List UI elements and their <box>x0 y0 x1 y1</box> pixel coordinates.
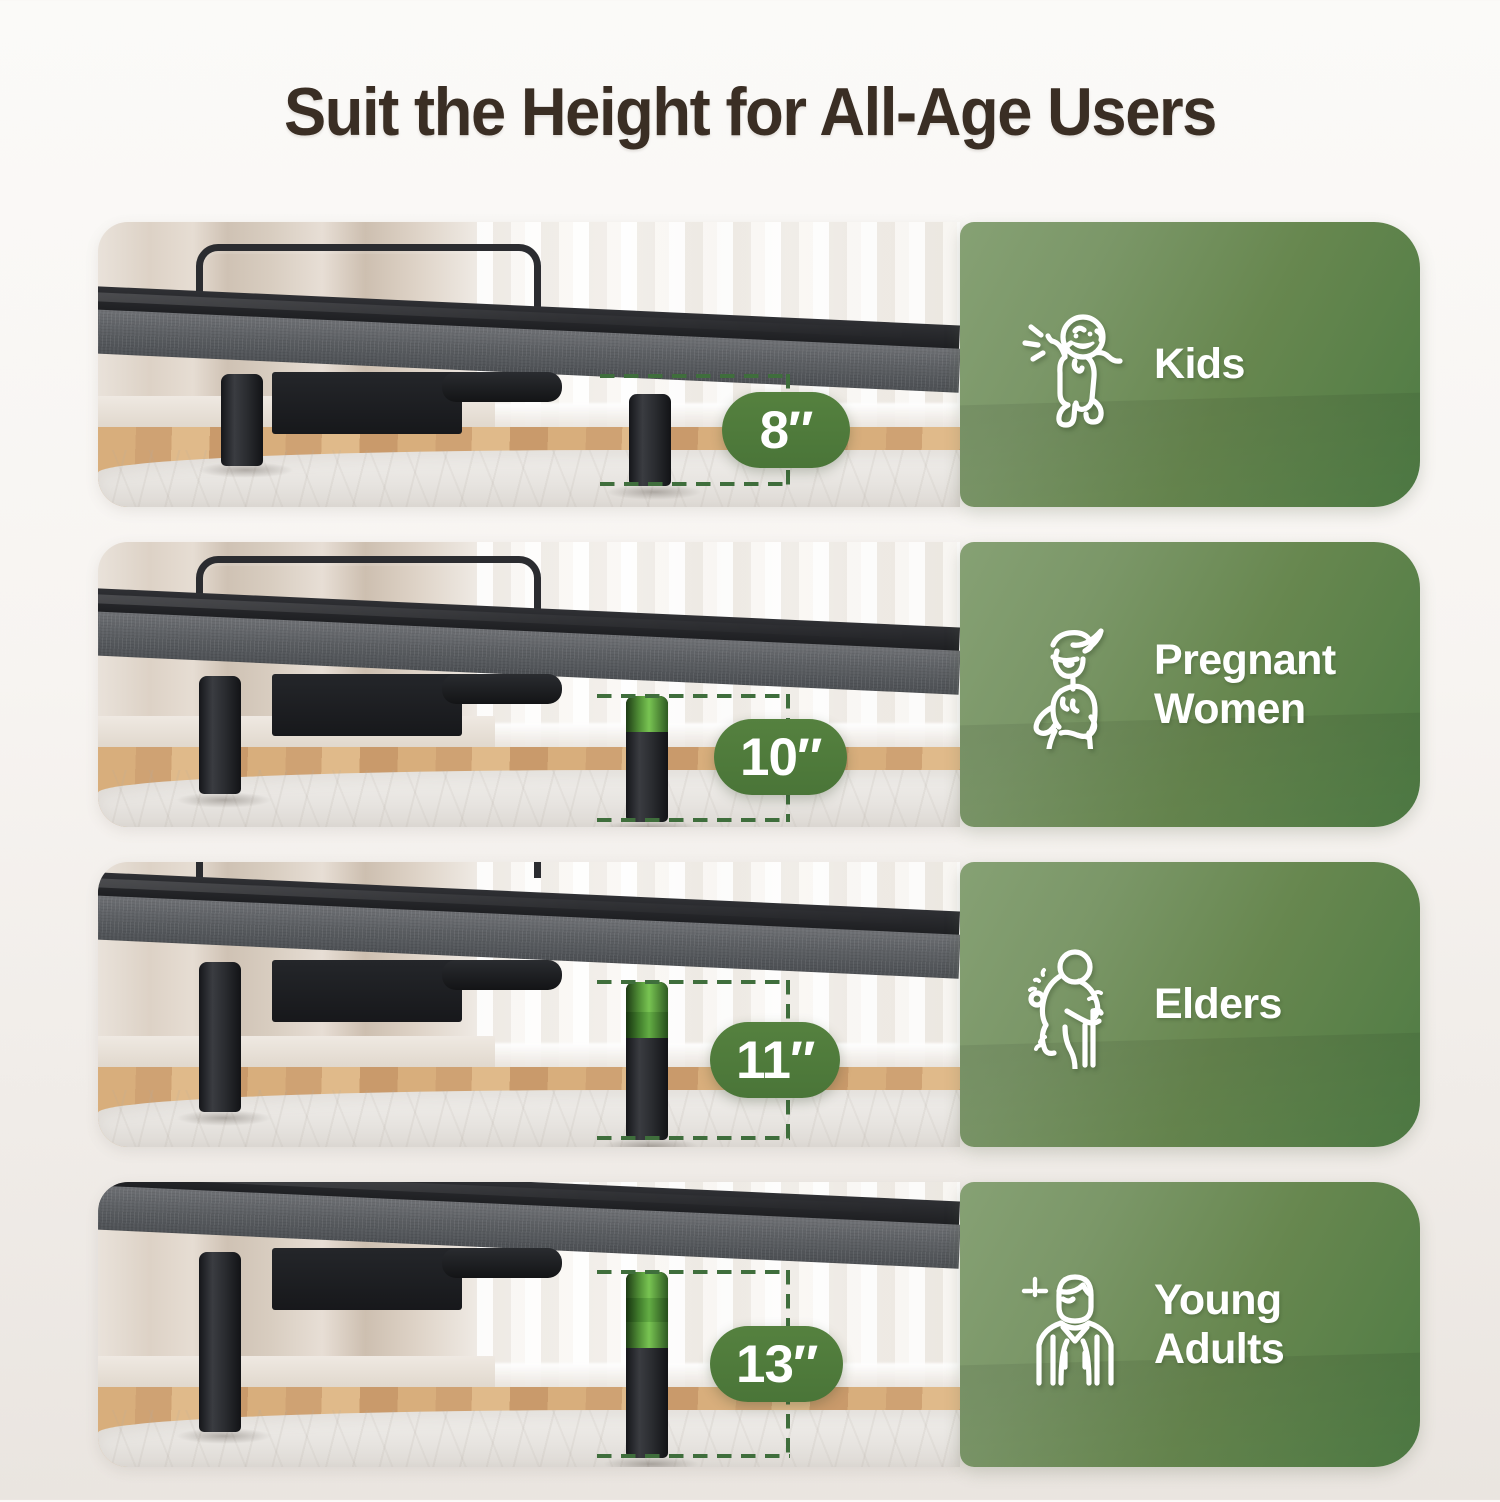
leg-floor-shadow <box>176 792 272 808</box>
bed-leg-left <box>199 676 241 794</box>
audience-label-line: Young <box>1154 1276 1284 1324</box>
motor-cylinder <box>442 674 562 704</box>
motor-housing <box>272 372 462 434</box>
audience-label-line: Women <box>1154 685 1336 733</box>
audience-label-line: Kids <box>1154 340 1245 388</box>
leg-floor-shadow <box>606 484 702 500</box>
measure-line-top <box>600 374 790 378</box>
audience-card-kids[interactable]: Kids <box>960 222 1420 507</box>
height-row: 10″ <box>0 542 1500 827</box>
height-row: 11″ <box>0 862 1500 1147</box>
height-row: 8″ <box>0 222 1500 507</box>
audience-card-label: Kids <box>1154 340 1245 388</box>
height-badge-label: 10″ <box>740 731 821 784</box>
audience-card-label: Young Adults <box>1154 1276 1284 1372</box>
pregnant-woman-icon <box>984 621 1154 749</box>
motor-cylinder <box>442 372 562 402</box>
motor-housing <box>272 1248 462 1310</box>
bed-photo-11in <box>98 862 960 1147</box>
bed-leg-left <box>199 962 241 1112</box>
bed-guard-rail <box>196 862 541 878</box>
height-badge-label: 13″ <box>736 1338 817 1391</box>
motor-cylinder <box>442 960 562 990</box>
audience-card-pregnant-women[interactable]: Pregnant Women <box>960 542 1420 827</box>
elder-with-cane-icon <box>984 941 1154 1069</box>
height-option-rows: 8″ <box>0 222 1500 1502</box>
height-badge: 11″ <box>710 1022 840 1098</box>
leg-floor-shadow <box>176 1110 272 1126</box>
audience-label-line: Pregnant <box>1154 636 1336 684</box>
measure-line-bottom <box>600 482 790 486</box>
motor-housing <box>272 674 462 736</box>
height-row: 13″ Young <box>0 1182 1500 1467</box>
audience-label-line: Adults <box>1154 1325 1284 1373</box>
measure-line-bottom <box>597 818 790 822</box>
height-badge: 8″ <box>722 392 850 468</box>
motor-cylinder <box>442 1248 562 1278</box>
audience-card-label: Elders <box>1154 980 1282 1028</box>
audience-card-label: Pregnant Women <box>1154 636 1336 732</box>
audience-card-young-adults[interactable]: Young Adults <box>960 1182 1420 1467</box>
bed-leg-left <box>221 374 263 466</box>
bed-photo-8in <box>98 222 960 507</box>
audience-label-line: Elders <box>1154 980 1282 1028</box>
audience-card-elders[interactable]: Elders <box>960 862 1420 1147</box>
measure-line-top <box>597 980 790 984</box>
kid-waving-icon <box>984 301 1154 429</box>
height-badge-label: 11″ <box>736 1034 814 1087</box>
height-badge: 10″ <box>714 719 847 795</box>
motor-housing <box>272 960 462 1022</box>
height-badge-label: 8″ <box>760 404 813 457</box>
measure-line-top <box>597 1270 790 1274</box>
measure-line-top <box>597 694 790 698</box>
bed-photo-13in <box>98 1182 960 1467</box>
young-adult-suit-icon <box>984 1261 1154 1389</box>
bed-leg-left <box>199 1252 241 1432</box>
page-title: Suit the Height for All-Age Users <box>53 0 1448 146</box>
measure-line-bottom <box>597 1454 790 1458</box>
height-badge: 13″ <box>710 1326 843 1402</box>
measure-line-bottom <box>597 1136 790 1140</box>
